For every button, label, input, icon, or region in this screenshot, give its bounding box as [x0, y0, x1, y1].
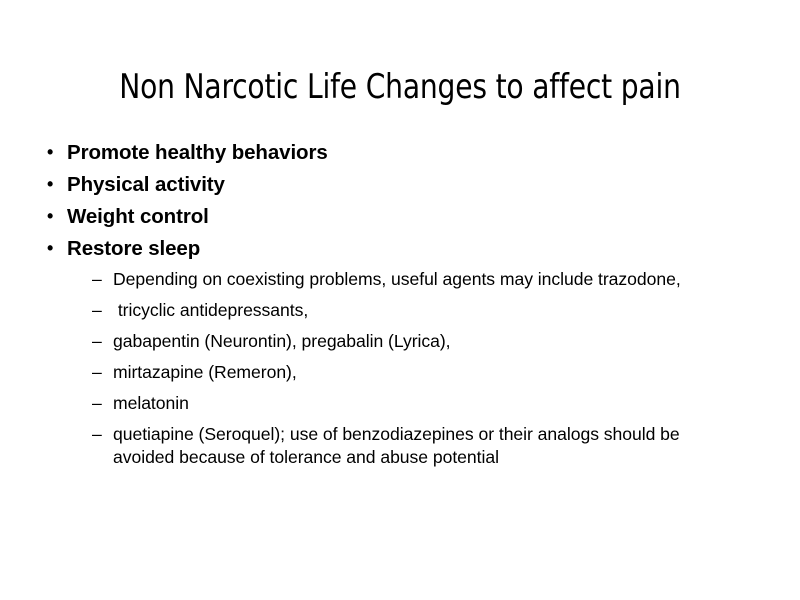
dash-marker-icon: –: [40, 299, 113, 321]
sub-list-item: – quetiapine (Seroquel); use of benzodia…: [40, 423, 752, 467]
sub-list-item: – mirtazapine (Remeron),: [40, 361, 752, 383]
bullet-label: Physical activity: [67, 170, 752, 200]
dash-marker-icon: –: [40, 268, 113, 290]
bullet-marker-icon: •: [40, 138, 67, 167]
sub-bullet-label: Depending on coexisting problems, useful…: [113, 268, 738, 290]
list-item: • Weight control: [40, 202, 752, 232]
list-item: • Promote healthy behaviors: [40, 138, 752, 168]
page-title: Non Narcotic Life Changes to affect pain: [69, 67, 731, 107]
bullet-marker-icon: •: [40, 170, 67, 199]
bullet-label: Weight control: [67, 202, 752, 232]
list-item: • Restore sleep: [40, 234, 752, 264]
slide-body-content: • Promote healthy behaviors • Physical a…: [40, 138, 752, 477]
sub-bullet-list: – Depending on coexisting problems, usef…: [40, 268, 752, 468]
bullet-marker-icon: •: [40, 234, 67, 263]
sub-list-item: – Depending on coexisting problems, usef…: [40, 268, 752, 290]
bullet-label: Restore sleep: [67, 234, 752, 264]
presentation-slide: Non Narcotic Life Changes to affect pain…: [0, 0, 800, 600]
sub-bullet-label: mirtazapine (Remeron),: [113, 361, 738, 383]
sub-list-item: – gabapentin (Neurontin), pregabalin (Ly…: [40, 330, 752, 352]
dash-marker-icon: –: [40, 392, 113, 414]
sub-bullet-label: tricyclic antidepressants,: [113, 299, 738, 321]
dash-marker-icon: –: [40, 361, 113, 383]
dash-marker-icon: –: [40, 330, 113, 352]
bullet-marker-icon: •: [40, 202, 67, 231]
sub-bullet-label: quetiapine (Seroquel); use of benzodiaze…: [113, 423, 738, 467]
dash-marker-icon: –: [40, 423, 113, 445]
bullet-label: Promote healthy behaviors: [67, 138, 752, 168]
sub-list-item: – tricyclic antidepressants,: [40, 299, 752, 321]
list-item: • Physical activity: [40, 170, 752, 200]
sub-list-item: – melatonin: [40, 392, 752, 414]
sub-bullet-label: melatonin: [113, 392, 738, 414]
sub-bullet-label: gabapentin (Neurontin), pregabalin (Lyri…: [113, 330, 738, 352]
